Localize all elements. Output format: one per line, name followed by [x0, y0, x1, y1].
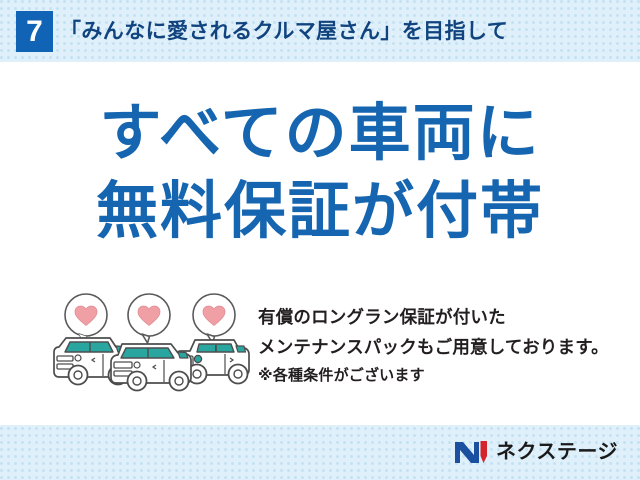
content-panel: すべての車両に 無料保証が付帯 — [0, 62, 640, 425]
header-title: 「みんなに愛されるクルマ屋さん」を目指して — [60, 14, 508, 50]
headline-line-1: すべての車両に — [0, 95, 640, 173]
brand-name: ネクステージ — [496, 439, 618, 465]
body-copy: 有償のロングラン保証が付いた メンテナンスパックもご用意しております。 ※各種条… — [258, 302, 630, 390]
nextage-n-logo-icon — [454, 439, 488, 465]
headline-line-2: 無料保証が付帯 — [0, 173, 640, 251]
heart-bubble-left — [65, 294, 107, 343]
body-copy-line-2: メンテナンスパックもご用意しております。 — [258, 332, 630, 362]
heart-bubble-right — [193, 294, 235, 343]
heart-bubble-center — [128, 294, 170, 343]
headline: すべての車両に 無料保証が付帯 — [0, 95, 640, 251]
three-cars-illustration — [48, 290, 253, 400]
body-copy-line-1: 有償のロングラン保証が付いた — [258, 302, 630, 332]
cars-with-heart-bubbles-svg — [48, 290, 253, 400]
lower-section: 有償のロングラン保証が付いた メンテナンスパックもご用意しております。 ※各種条… — [0, 290, 640, 425]
header: 7 「みんなに愛されるクルマ屋さん」を目指して — [0, 0, 640, 62]
section-number-badge: 7 — [16, 11, 53, 52]
brand-logo: ネクステージ — [454, 437, 618, 467]
footer: ネクステージ — [0, 425, 640, 480]
promo-banner: 7 「みんなに愛されるクルマ屋さん」を目指して すべての車両に 無料保証が付帯 — [0, 0, 640, 480]
body-copy-note: ※各種条件がございます — [258, 362, 630, 390]
